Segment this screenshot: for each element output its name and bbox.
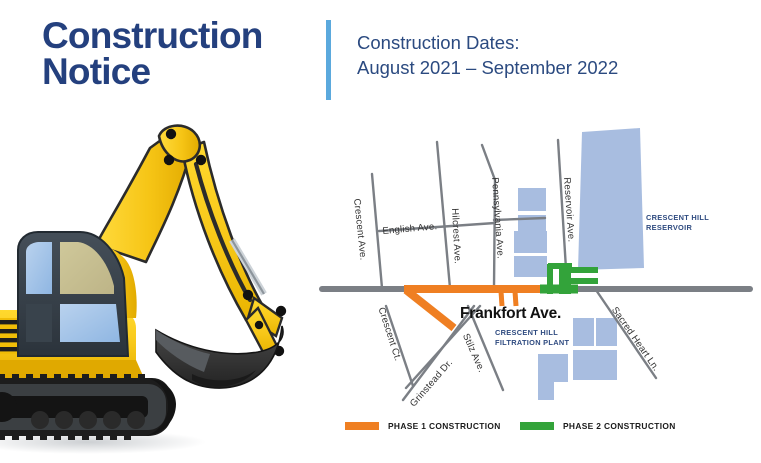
construction-dates: Construction Dates: August 2021 – Septem… <box>357 30 737 80</box>
legend-item-phase-2: PHASE 2 CONSTRUCTION <box>520 421 676 431</box>
map-buildings <box>514 128 644 400</box>
construction-notice-page: Construction Notice Construction Dates: … <box>0 0 761 458</box>
legend-label-phase-1: PHASE 1 CONSTRUCTION <box>388 421 501 431</box>
area-label-line1: CRESCENT HILL <box>646 213 709 223</box>
page-title-line2: Notice <box>42 54 322 90</box>
legend-swatch-phase-1 <box>345 422 379 430</box>
legend-swatch-phase-2 <box>520 422 554 430</box>
excavator-track <box>0 374 176 440</box>
area-label-crescent-hill-reservoir: CRESCENT HILL RESERVOIR <box>646 213 709 232</box>
area-label-line2: FILTRATION PLANT <box>495 338 569 348</box>
area-label-crescent-hill-filtration-plant: CRESCENT HILL FILTRATION PLANT <box>495 328 569 347</box>
area-label-line2: RESERVOIR <box>646 223 709 233</box>
street-label-frankfort-ave: Frankfort Ave. <box>460 305 561 323</box>
reservoir-polygon <box>578 128 644 270</box>
header: Construction Notice Construction Dates: … <box>0 0 761 112</box>
construction-map: Crescent Ave. English Ave. Hilcrest Ave.… <box>310 110 761 458</box>
map-svg <box>310 110 761 458</box>
area-label-line1: CRESCENT HILL <box>495 328 569 338</box>
header-divider <box>326 20 331 100</box>
page-title-line1: Construction <box>42 15 263 56</box>
construction-dates-range: August 2021 – September 2022 <box>357 55 737 80</box>
map-legend: PHASE 1 CONSTRUCTION PHASE 2 CONSTRUCTIO… <box>310 418 761 444</box>
legend-item-phase-1: PHASE 1 CONSTRUCTION <box>345 421 501 431</box>
legend-label-phase-2: PHASE 2 CONSTRUCTION <box>563 421 676 431</box>
excavator-illustration <box>0 112 316 458</box>
construction-dates-label: Construction Dates: <box>357 30 737 55</box>
page-title: Construction Notice <box>42 18 322 90</box>
